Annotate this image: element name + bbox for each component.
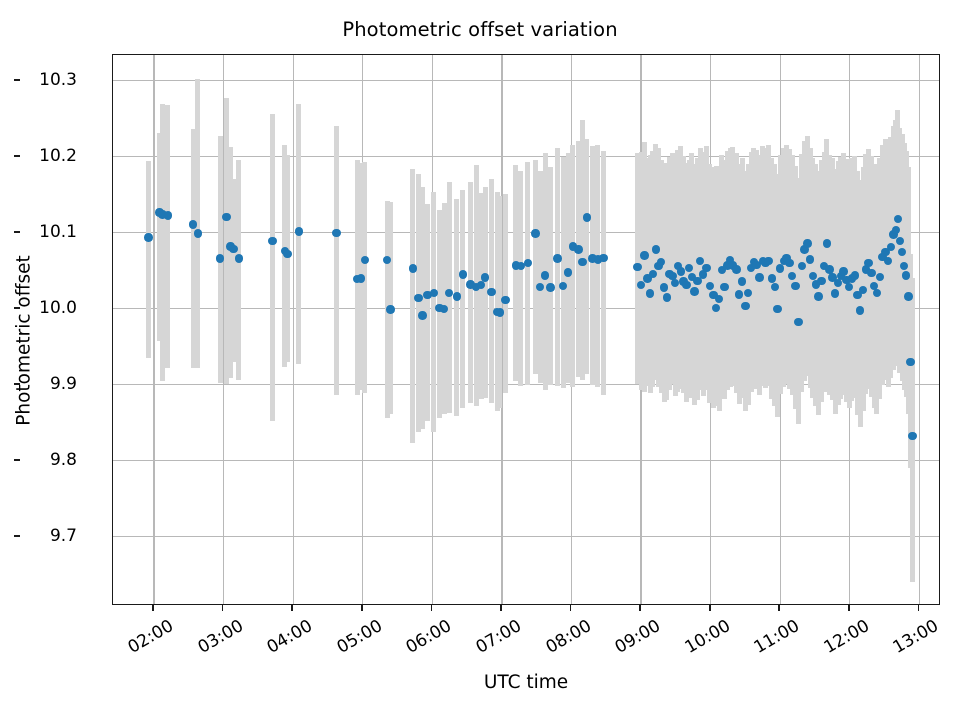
y-axis-ticklabel: 10.1 bbox=[39, 222, 77, 242]
data-point bbox=[235, 254, 243, 262]
y-axis-ticklabel: 10.2 bbox=[39, 146, 77, 166]
x-axis-ticklabel: 05:00 bbox=[333, 616, 385, 658]
data-point bbox=[216, 254, 224, 262]
page-title: Photometric offset variation bbox=[0, 18, 960, 41]
data-point bbox=[773, 305, 781, 313]
data-point bbox=[735, 290, 743, 298]
data-point bbox=[599, 254, 607, 262]
y-axis-ticklabel: 10.0 bbox=[39, 298, 77, 318]
data-point bbox=[646, 289, 654, 297]
data-point bbox=[702, 264, 710, 272]
x-axis-tick bbox=[709, 605, 711, 611]
data-point bbox=[430, 289, 438, 297]
data-point bbox=[283, 250, 291, 258]
data-point bbox=[814, 292, 822, 300]
data-point bbox=[887, 243, 895, 251]
y-axis-ticklabel: 9.9 bbox=[50, 374, 77, 394]
data-point bbox=[834, 279, 842, 287]
x-axis-ticklabel: 04:00 bbox=[264, 616, 316, 658]
x-axis-ticklabel: 06:00 bbox=[403, 616, 455, 658]
x-axis-tick bbox=[639, 605, 641, 611]
data-point bbox=[744, 289, 752, 297]
data-point bbox=[788, 272, 796, 280]
x-axis-ticklabel: 08:00 bbox=[542, 616, 594, 658]
data-point bbox=[851, 271, 859, 279]
x-axis-ticklabel: 07:00 bbox=[473, 616, 525, 658]
data-point bbox=[677, 267, 685, 275]
data-point bbox=[418, 311, 426, 319]
x-axis-tick bbox=[291, 605, 293, 611]
data-point bbox=[768, 274, 776, 282]
plot-area bbox=[112, 54, 940, 605]
data-point bbox=[524, 259, 532, 267]
data-point bbox=[864, 259, 872, 267]
x-axis-tick bbox=[918, 605, 920, 611]
data-point bbox=[189, 220, 197, 228]
data-point bbox=[386, 305, 394, 313]
data-point bbox=[531, 229, 539, 237]
data-point bbox=[690, 287, 698, 295]
data-point bbox=[764, 257, 772, 265]
data-point bbox=[791, 282, 799, 290]
data-point bbox=[578, 258, 586, 266]
x-axis-tick bbox=[570, 605, 572, 611]
data-point bbox=[487, 288, 495, 296]
data-point bbox=[553, 254, 561, 262]
data-point bbox=[831, 289, 839, 297]
data-point bbox=[295, 227, 303, 235]
data-point bbox=[771, 283, 779, 291]
x-axis-ticklabel: 12:00 bbox=[820, 616, 872, 658]
x-axis-label: UTC time bbox=[112, 672, 940, 693]
data-point bbox=[908, 432, 916, 440]
data-point bbox=[652, 245, 660, 253]
data-point bbox=[898, 248, 906, 256]
data-point bbox=[194, 229, 202, 237]
data-point bbox=[440, 305, 448, 313]
data-point bbox=[477, 281, 485, 289]
data-point bbox=[409, 264, 417, 272]
data-point bbox=[501, 296, 509, 304]
data-point bbox=[817, 277, 825, 285]
data-point bbox=[741, 302, 749, 310]
data-point bbox=[823, 239, 831, 247]
data-point bbox=[640, 251, 648, 259]
data-point bbox=[574, 245, 582, 253]
data-point bbox=[904, 292, 912, 300]
data-point bbox=[892, 226, 900, 234]
data-point bbox=[649, 270, 657, 278]
data-point bbox=[453, 292, 461, 300]
data-point bbox=[806, 255, 814, 263]
x-axis-tick bbox=[361, 605, 363, 611]
scatter-point-layer bbox=[113, 55, 939, 604]
data-point bbox=[229, 245, 237, 253]
data-point bbox=[876, 273, 884, 281]
data-point bbox=[559, 282, 567, 290]
data-point bbox=[873, 289, 881, 297]
data-point bbox=[583, 213, 591, 221]
data-point bbox=[496, 308, 504, 316]
photometric-offset-chart: Photometric offset variation 9.79.89.910… bbox=[0, 0, 960, 720]
x-axis-tick bbox=[222, 605, 224, 611]
data-point bbox=[361, 256, 369, 264]
data-point bbox=[776, 264, 784, 272]
data-point bbox=[706, 282, 714, 290]
x-axis-ticklabel: 13:00 bbox=[890, 616, 942, 658]
data-point bbox=[414, 294, 422, 302]
x-axis-tick bbox=[778, 605, 780, 611]
data-point bbox=[144, 233, 152, 241]
data-point bbox=[222, 213, 230, 221]
x-axis-ticklabel: 11:00 bbox=[751, 616, 803, 658]
data-point bbox=[164, 211, 172, 219]
x-axis-ticklabel: 03:00 bbox=[194, 616, 246, 658]
data-point bbox=[867, 269, 875, 277]
data-point bbox=[732, 265, 740, 273]
y-axis-label: Photometric offset bbox=[14, 81, 35, 601]
data-point bbox=[564, 268, 572, 276]
y-axis-ticklabel: 9.8 bbox=[50, 450, 77, 470]
data-point bbox=[798, 262, 806, 270]
data-point bbox=[906, 358, 914, 366]
data-point bbox=[541, 271, 549, 279]
y-axis-ticklabel: 10.3 bbox=[39, 70, 77, 90]
data-point bbox=[663, 293, 671, 301]
data-point bbox=[536, 283, 544, 291]
data-point bbox=[896, 237, 904, 245]
x-axis-tick bbox=[152, 605, 154, 611]
data-point bbox=[546, 283, 554, 291]
x-axis-ticklabel: 09:00 bbox=[612, 616, 664, 658]
data-point bbox=[712, 304, 720, 312]
data-point bbox=[720, 283, 728, 291]
data-point bbox=[383, 256, 391, 264]
data-point bbox=[481, 273, 489, 281]
data-point bbox=[685, 264, 693, 272]
data-point bbox=[660, 283, 668, 291]
data-point bbox=[755, 273, 763, 281]
data-point bbox=[809, 272, 817, 280]
data-point bbox=[671, 279, 679, 287]
data-point bbox=[785, 259, 793, 267]
x-axis-ticklabel: 02:00 bbox=[125, 616, 177, 658]
y-axis-ticklabel: 9.7 bbox=[50, 526, 77, 546]
data-point bbox=[856, 306, 864, 314]
data-point bbox=[459, 270, 467, 278]
x-axis-ticklabel: 10:00 bbox=[681, 616, 733, 658]
data-point bbox=[633, 263, 641, 271]
x-axis-tick bbox=[848, 605, 850, 611]
data-point bbox=[794, 318, 802, 326]
data-point bbox=[839, 267, 847, 275]
data-point bbox=[682, 281, 690, 289]
data-point bbox=[268, 237, 276, 245]
data-point bbox=[357, 274, 365, 282]
data-point bbox=[845, 283, 853, 291]
data-point bbox=[803, 239, 811, 247]
x-axis-tick bbox=[431, 605, 433, 611]
data-point bbox=[900, 262, 908, 270]
data-point bbox=[884, 257, 892, 265]
data-point bbox=[894, 215, 902, 223]
data-point bbox=[738, 277, 746, 285]
data-point bbox=[332, 229, 340, 237]
x-axis-tick bbox=[500, 605, 502, 611]
data-point bbox=[715, 295, 723, 303]
data-point bbox=[902, 271, 910, 279]
data-point bbox=[825, 265, 833, 273]
data-point bbox=[657, 258, 665, 266]
data-point bbox=[859, 286, 867, 294]
